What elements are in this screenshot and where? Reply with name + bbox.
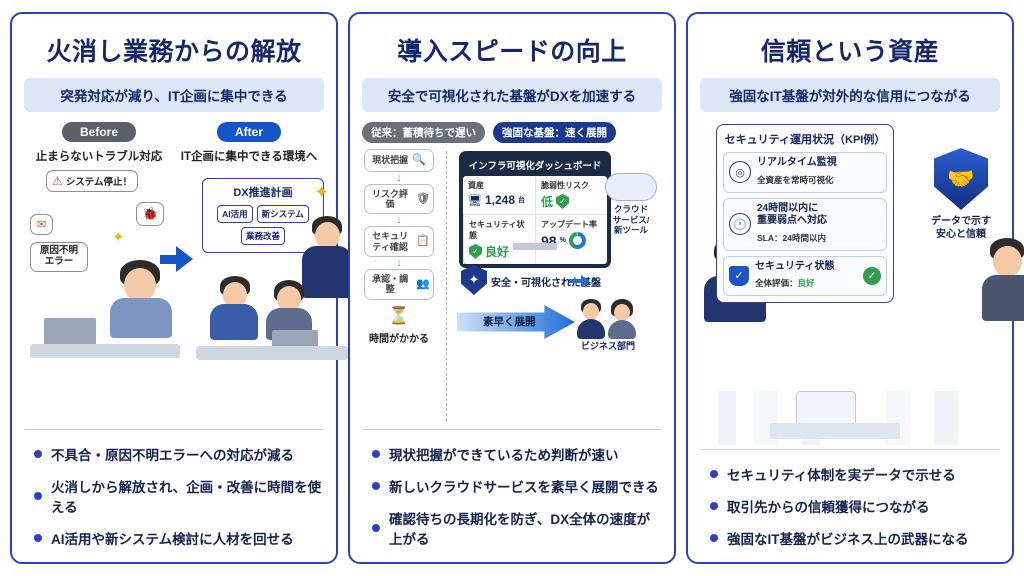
kpi-cell-security-state: セキュリティ状態 ✓ 良好 (463, 214, 535, 264)
dx-tag: AI活用 (217, 205, 253, 223)
flow-step-risk-assessment: リスク評価 🛡 (364, 184, 434, 215)
worker-head (124, 268, 156, 302)
panel-2-stage: 現状把握 🔍 ↓ リスク評価 🛡 ↓ セキュリティ確認 📋 ↓ (362, 147, 662, 425)
flow-arrow-icon: ↓ (396, 259, 402, 267)
shield-check-icon: ✓ (729, 266, 749, 286)
speech-bubble-bug: 🐞 (136, 202, 164, 226)
panel-2-bullets: 現状把握ができているため判断が速い 新しいクラウドサービスを素早く展開できる 確… (362, 429, 662, 554)
shield-check-icon: ✓ (469, 244, 482, 259)
kpi-row-sub: 全資産を常時可視化 (757, 175, 834, 185)
dx-plan-card: DX推進計画 AI活用 新システム 業務改善 (202, 178, 324, 253)
kpi-row-main: セキュリティ状態 (755, 261, 834, 274)
clock-icon: 🕐 (729, 213, 751, 235)
kpi-unit: 台 (518, 195, 525, 205)
bubble-text: 原因不明エラー (36, 246, 82, 268)
kpi-cell-update-rate: アップデート率 98 % (535, 214, 607, 264)
alert-mail-icon: ✉ (37, 218, 46, 231)
kpi-card-title: セキュリティ運用状況（KPI例） (723, 131, 887, 147)
list-item: 確認待ちの長期化を防ぎ、DX全体の速度が上がる (362, 502, 662, 554)
dashboard-title: インフラ可視化ダッシュボード (463, 155, 607, 176)
flow-step-security-check: セキュリティ確認 📋 (364, 226, 434, 257)
kpi-row-main: 24時間以内に 重要弱点へ対応 (757, 203, 827, 228)
worker-body (110, 298, 172, 338)
business-unit-group: ビジネス部門 (577, 297, 639, 352)
transition-arrow-icon (176, 246, 193, 272)
monitor-stand (513, 243, 557, 250)
kpi-number: 良好 (485, 243, 509, 260)
kpi-cell-vuln-risk: 脆弱性リスク 低 ✓ (535, 176, 607, 214)
dashboard-grid: 資産 🖥 1,248 台 脆弱性リスク 低 (463, 176, 607, 264)
bullet-dot-icon (34, 492, 42, 500)
infographic-board: 火消し業務からの解放 突発対応が減り、IT企画に集中できる Before 止まら… (0, 0, 1024, 576)
person-body (577, 319, 605, 339)
kpi-label: 脆弱性リスク (541, 180, 602, 191)
flow-step-label: リスク評価 (368, 189, 412, 210)
flow-step-label: セキュリティ確認 (368, 231, 412, 252)
list-item: 強固なIT基盤がビジネス上の武器になる (700, 522, 1000, 554)
kpi-card: セキュリティ運用状況（KPI例） ◎ リアルタイム監視 全資産を常時可視化 🕐 … (716, 124, 894, 303)
bullet-text: AI活用や新システム検討に人材を回せる (51, 528, 294, 548)
panel-release-from-firefighting: 火消し業務からの解放 突発対応が減り、IT企画に集中できる Before 止まら… (10, 12, 338, 564)
people-icon: 👥 (416, 278, 430, 291)
kpi-row-main: リアルタイム監視 (757, 157, 837, 170)
list-item: 取引先からの信頼獲得につながる (700, 490, 1000, 522)
person2-body (982, 275, 1024, 321)
bullet-dot-icon (710, 502, 718, 510)
flow-arrow-icon: ↓ (396, 174, 402, 182)
bullet-dot-icon (710, 534, 718, 542)
before-badge: Before (62, 122, 136, 142)
panel-subtitle: 安全で可視化された基盤がDXを加速する (362, 78, 662, 112)
deploy-label: 素早く展開 (483, 314, 536, 329)
page-title: 火消し業務からの解放 (24, 32, 324, 68)
kpi-sub-value: 良好 (798, 278, 815, 288)
chip-strong-base-fast: 強固な基盤：速く展開 (493, 122, 616, 143)
tablet-device (796, 391, 856, 427)
dx-plan-tags: AI活用 新システム 業務改善 (209, 205, 317, 245)
after-badge: After (217, 122, 281, 142)
bullet-text: 強固なIT基盤がビジネス上の武器になる (727, 528, 969, 548)
bug-icon: 🐞 (142, 206, 158, 222)
page-title: 導入スピードの向上 (362, 32, 662, 68)
panel-2-body: 現状把握 🔍 ↓ リスク評価 🛡 ↓ セキュリティ確認 📋 ↓ (362, 147, 662, 425)
donut-gauge-icon (569, 232, 586, 249)
before-after-row: Before 止まらないトラブル対応 After IT企画に集中できる環境へ (24, 122, 324, 164)
business-unit-label: ビジネス部門 (577, 339, 639, 352)
list-item: AI活用や新システム検討に人材を回せる (24, 522, 324, 554)
meeting-table (770, 423, 900, 439)
trust-label: データで示す 安心と信頼 (926, 215, 996, 241)
member-body (210, 304, 258, 340)
before-column: Before 止まらないトラブル対応 (27, 122, 171, 164)
shield-check-icon: 🛡 (416, 193, 430, 206)
kpi-row-sub: 全体評価：良好 (755, 278, 815, 288)
modern-flow-column: インフラ可視化ダッシュボード 資産 🖥 1,248 台 (457, 147, 662, 425)
bullet-dot-icon (34, 534, 42, 542)
kpi-label: アップデート率 (541, 219, 602, 230)
monitor-eye-icon: ◎ (729, 161, 751, 183)
kpi-row-body: 24時間以内に 重要弱点へ対応 SLA：24時間以内 (757, 203, 827, 246)
business-people-illustration (577, 297, 639, 337)
flow-step-label: 現状把握 (372, 155, 408, 165)
bullet-text: 新しいクラウドサービスを素早く展開できる (389, 476, 659, 496)
dx-tag: 新システム (257, 205, 309, 223)
laptop (44, 318, 96, 346)
bullet-text: 確認待ちの長期化を防ぎ、DX全体の速度が上がる (389, 508, 660, 548)
kpi-number: 1,248 (485, 193, 515, 207)
panel-subtitle: 突発対応が減り、IT企画に集中できる (24, 78, 324, 112)
speech-bubble-unknown-error: 原因不明エラー (30, 242, 88, 272)
bullet-text: 現状把握ができているため判断が速い (389, 444, 619, 464)
flow-step-approval: 承認・調整 👥 (364, 269, 434, 300)
shield-check-icon: ✓ (556, 194, 569, 209)
cloud-label: クラウド サービス/ 新ツール (602, 204, 660, 236)
panel-3-stage: セキュリティ運用状況（KPI例） ◎ リアルタイム監視 全資産を常時可視化 🕐 … (700, 122, 1000, 445)
cloud-service-group: クラウド サービス/ 新ツール (602, 173, 660, 236)
person2-head (993, 246, 1022, 277)
panel-1-bullets: 不具合・原因不明エラーへの対応が減る 火消しから解放され、企画・改善に時間を使え… (24, 429, 324, 554)
sparkle-icon: ✦ (112, 228, 125, 246)
comparison-chips: 従来：蓄積待ちで遅い 強固な基盤：速く展開 (362, 122, 662, 143)
list-item: 不具合・原因不明エラーへの対応が減る (24, 438, 324, 470)
after-column: After IT企画に集中できる環境へ (177, 122, 321, 164)
illustration-scene: ⚠ システム停止！ 🐞 原因不明エラー ✉ ✦ (24, 168, 324, 364)
kpi-row-24h-response: 🕐 24時間以内に 重要弱点へ対応 SLA：24時間以内 (723, 198, 887, 251)
person-head (583, 303, 599, 320)
speech-bubble-system-down: ⚠ システム停止！ (46, 170, 138, 192)
divider (446, 151, 447, 421)
bullet-dot-icon (372, 524, 380, 532)
kpi-number: 低 (541, 193, 553, 210)
bullet-text: 取引先からの信頼獲得につながる (727, 496, 930, 516)
bubble-text: システム停止！ (66, 174, 132, 188)
kpi-row-realtime-monitoring: ◎ リアルタイム監視 全資産を常時可視化 (723, 152, 887, 193)
handshake-icon: 🤝 (934, 148, 988, 210)
list-item: セキュリティ体制を実データで示せる (700, 458, 1000, 490)
bullet-text: 火消しから解放され、企画・改善に時間を使える (51, 476, 322, 516)
bullet-text: 不具合・原因不明エラーへの対応が減る (51, 444, 294, 464)
desk (196, 346, 348, 360)
shield-icon: ✦ (461, 265, 487, 295)
panel-3-bullets: セキュリティ体制を実データで示せる 取引先からの信頼獲得につながる 強固なIT基… (700, 449, 1000, 554)
cloud-icon (605, 173, 657, 201)
list-item: 新しいクラウドサービスを素早く展開できる (362, 470, 662, 502)
panel-deployment-speed: 導入スピードの向上 安全で可視化された基盤がDXを加速する 従来：蓄積待ちで遅い… (348, 12, 676, 564)
kpi-sub-prefix: 全体評価： (755, 278, 798, 288)
panel-1-stage: Before 止まらないトラブル対応 After IT企画に集中できる環境へ ⚠… (24, 122, 324, 425)
kpi-row-sub: SLA：24時間以内 (757, 233, 826, 243)
bullet-text: セキュリティ体制を実データで示せる (727, 464, 956, 484)
after-caption: IT企画に集中できる環境へ (177, 148, 321, 164)
kpi-value: 🖥 1,248 台 (468, 193, 530, 207)
before-caption: 止まらないトラブル対応 (27, 148, 171, 164)
flow-footer-label: 時間がかかる (369, 330, 429, 345)
kpi-label: セキュリティ状態 (469, 219, 530, 241)
kpi-row-body: セキュリティ状態 全体評価：良好 (755, 261, 834, 292)
presenter-head (315, 222, 340, 249)
flow-arrow-icon: ↓ (396, 216, 402, 224)
kpi-value: 低 ✓ (541, 193, 602, 210)
legacy-flow-column: 現状把握 🔍 ↓ リスク評価 🛡 ↓ セキュリティ確認 📋 ↓ (362, 147, 436, 425)
panel-subtitle: 強固なIT基盤が対外的な信用につながる (700, 78, 1000, 112)
list-item: 火消しから解放され、企画・改善に時間を使える (24, 470, 324, 522)
panel-trust-asset: 信頼という資産 強固なIT基盤が対外的な信用につながる セキュリティ運用状況（K… (686, 12, 1014, 564)
hourglass-icon: ⏳ (388, 306, 409, 326)
bullet-dot-icon (372, 450, 380, 458)
bullet-dot-icon (710, 470, 718, 478)
desk (30, 344, 180, 358)
kpi-cell-assets: 資産 🖥 1,248 台 (463, 176, 535, 214)
person2-body (608, 320, 636, 339)
check-circle-icon: ✓ (863, 267, 881, 285)
bullet-dot-icon (372, 482, 380, 490)
kpi-row-security-state: ✓ セキュリティ状態 全体評価：良好 ✓ (723, 256, 887, 297)
chip-legacy-slow: 従来：蓄積待ちで遅い (362, 122, 485, 143)
presenter-body (302, 246, 352, 298)
dx-tag: 業務改善 (241, 227, 285, 245)
list-item: 現状把握ができているため判断が速い (362, 438, 662, 470)
person2-head (614, 304, 630, 321)
warning-icon: ⚠ (52, 174, 63, 188)
sparkle-icon: ✦ (314, 182, 329, 203)
page-title: 信頼という資産 (700, 32, 1000, 68)
flow-step-current-status: 現状把握 🔍 (364, 149, 434, 172)
search-icon: 🔍 (412, 154, 426, 167)
device-icon: 🖥 (468, 194, 482, 207)
trust-badge-group: 🤝 データで示す 安心と信頼 (926, 148, 996, 241)
dashboard-monitor: インフラ可視化ダッシュボード 資産 🖥 1,248 台 (459, 151, 611, 268)
clipboard-check-icon: 📋 (416, 235, 430, 248)
flow-arrow-icon (581, 275, 590, 287)
flow-step-label: 承認・調整 (368, 274, 412, 295)
kpi-row-body: リアルタイム監視 全資産を常時可視化 (757, 157, 837, 188)
dx-plan-title: DX推進計画 (209, 184, 317, 200)
bullet-dot-icon (34, 450, 42, 458)
kpi-unit: % (560, 237, 566, 244)
speech-bubble-alert-mail: ✉ (30, 214, 53, 235)
kpi-label: 資産 (468, 180, 530, 191)
